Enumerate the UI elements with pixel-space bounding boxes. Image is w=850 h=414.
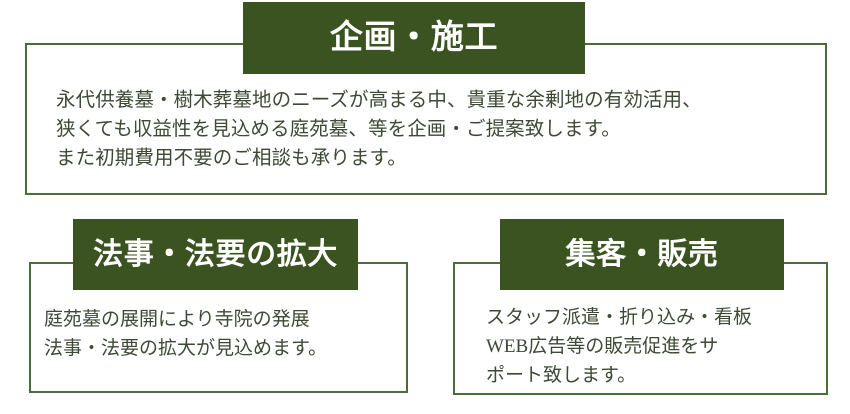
infographic-canvas: 企画・施工 永代供養墓・樹木葬墓地のニーズが高まる中、貴重な余剰地の有効活用、 … bbox=[0, 0, 850, 414]
planning-card-banner: 企画・施工 bbox=[243, 2, 585, 74]
planning-card-body: 永代供養墓・樹木葬墓地のニーズが高まる中、貴重な余剰地の有効活用、 狭くても収益… bbox=[56, 86, 816, 173]
services-expansion-card-banner: 法事・法要の拡大 bbox=[73, 219, 358, 290]
sales-promotion-card-body: スタッフ派遣・折り込み・看板 WEB広告等の販売促進をサ ポート致します。 bbox=[486, 303, 826, 390]
planning-card-title: 企画・施工 bbox=[330, 22, 498, 55]
sales-promotion-card-title: 集客・販売 bbox=[566, 240, 719, 270]
services-expansion-card-title: 法事・法要の拡大 bbox=[93, 240, 338, 270]
sales-promotion-card-banner: 集客・販売 bbox=[500, 219, 784, 290]
services-expansion-card-body: 庭苑墓の展開により寺院の発展 法事・法要の拡大が見込めます。 bbox=[44, 305, 394, 363]
